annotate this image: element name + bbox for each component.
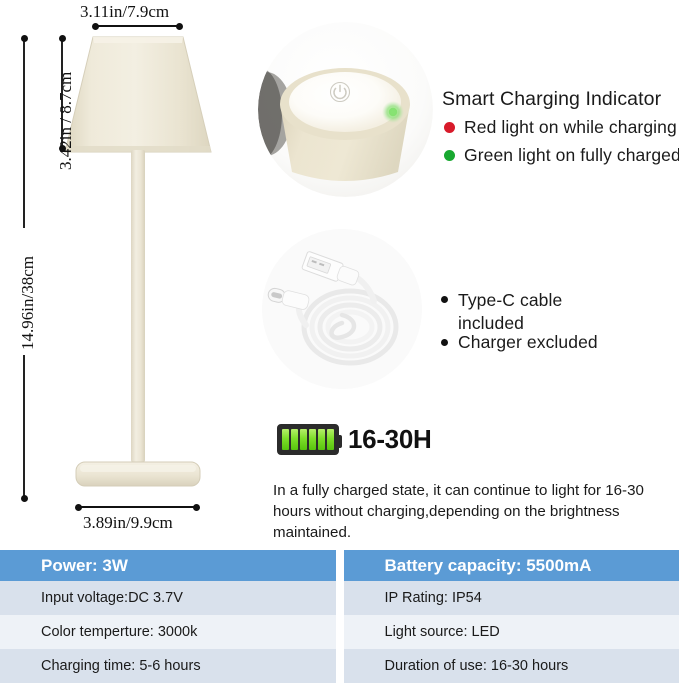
dim-endpoint-dot xyxy=(176,23,183,30)
spec-row-input-voltage: Input voltage:DC 3.7V xyxy=(0,581,336,615)
spec-row-color-temperature: Color temperture: 3000k xyxy=(0,615,336,649)
battery-runtime-block: 16-30H xyxy=(277,424,431,455)
charging-indicator-title: Smart Charging Indicator xyxy=(442,88,661,111)
spec-row-ip-rating: IP Rating: IP54 xyxy=(344,581,679,615)
usb-cable-photo xyxy=(262,229,422,389)
dim-label-base-width: 3.89in/9.9cm xyxy=(83,513,173,533)
dim-line-total-height-lower xyxy=(23,355,25,498)
dim-endpoint-dot xyxy=(75,504,82,511)
lamp-base-photo xyxy=(258,22,433,197)
dim-line-base-width xyxy=(78,506,196,508)
dim-label-shade-height: 3.42in / 8.7cm xyxy=(56,72,76,170)
dim-endpoint-dot xyxy=(92,23,99,30)
dim-label-shade-width: 3.11in/7.9cm xyxy=(80,2,169,22)
spec-row-charging-time: Charging time: 5-6 hours xyxy=(0,649,336,683)
product-infographic: 3.11in/7.9cm 3.42in / 8.7cm 14.96in/38cm… xyxy=(0,0,679,683)
spec-row-duration-of-use: Duration of use: 16-30 hours xyxy=(344,649,679,683)
spec-column-left: Power: 3W Input voltage:DC 3.7V Color te… xyxy=(0,550,336,683)
cable-bullet-included: Type-C cable included xyxy=(441,289,562,335)
charging-bullet-green-label: Green light on fully charged xyxy=(464,145,679,166)
charging-bullet-green: Green light on fully charged xyxy=(444,145,679,166)
dim-line-shade-width xyxy=(95,25,179,27)
battery-full-icon xyxy=(277,424,339,455)
red-light-dot xyxy=(444,122,455,133)
spec-column-right: Battery capacity: 5500mA IP Rating: IP54… xyxy=(344,550,679,683)
bullet-dot-icon xyxy=(441,339,448,346)
cable-bullet-charger-excluded: Charger excluded xyxy=(441,332,598,353)
cable-bullet-charger-excluded-label: Charger excluded xyxy=(458,332,598,353)
lamp-dimension-figure: 3.11in/7.9cm 3.42in / 8.7cm 14.96in/38cm… xyxy=(0,0,250,540)
dim-endpoint-dot xyxy=(21,35,28,42)
charging-bullet-red-label: Red light on while charging xyxy=(464,117,677,138)
battery-runtime-description: In a fully charged state, it can continu… xyxy=(273,480,673,543)
spec-header-power: Power: 3W xyxy=(0,550,336,581)
specification-table: Power: 3W Input voltage:DC 3.7V Color te… xyxy=(0,550,679,683)
dim-label-total-height: 14.96in/38cm xyxy=(18,256,38,350)
charging-bullet-red: Red light on while charging xyxy=(444,117,677,138)
dim-endpoint-dot xyxy=(21,495,28,502)
battery-hours-label: 16-30H xyxy=(348,424,431,455)
dim-endpoint-dot xyxy=(59,35,66,42)
spec-row-light-source: Light source: LED xyxy=(344,615,679,649)
dim-endpoint-dot xyxy=(193,504,200,511)
dim-line-total-height-upper xyxy=(23,38,25,228)
bullet-dot-icon xyxy=(441,296,448,303)
green-light-dot xyxy=(444,150,455,161)
cable-bullet-included-line1: Type-C cable xyxy=(458,289,562,312)
lamp-base-illustration xyxy=(258,22,433,197)
usb-cable-illustration xyxy=(262,229,422,389)
spec-header-battery-capacity: Battery capacity: 5500mA xyxy=(344,550,679,581)
